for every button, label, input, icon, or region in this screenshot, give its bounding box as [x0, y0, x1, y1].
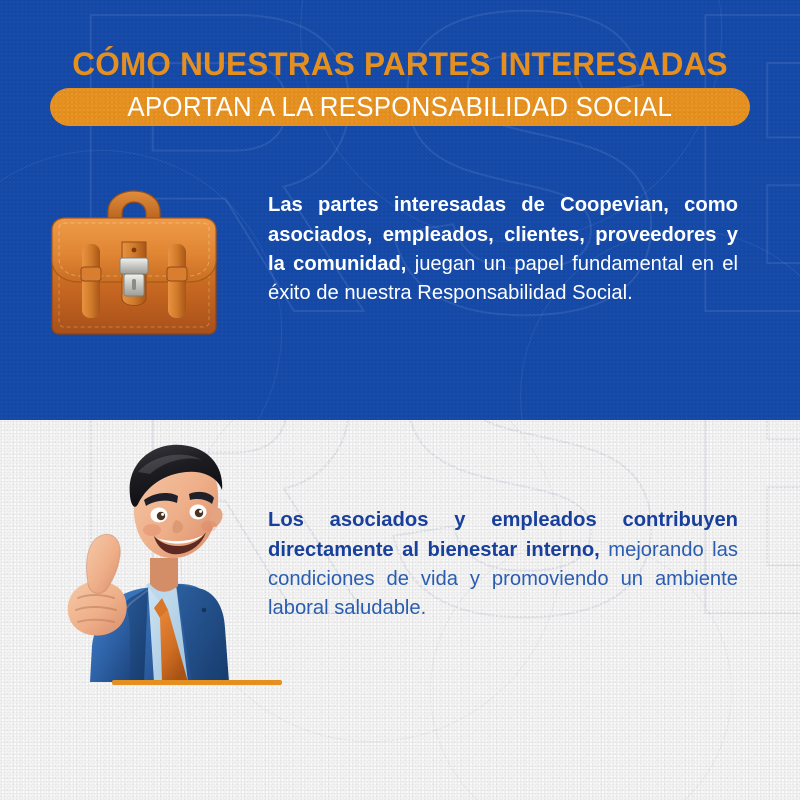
character-ground-bar [112, 680, 282, 685]
page-title-line-1: CÓMO NUESTRAS PARTES INTERESADAS [12, 0, 788, 81]
infographic-poster: RSE RSE CÓMO NUESTRAS PARTES INTERESADAS… [0, 0, 800, 800]
character-neck [150, 558, 178, 592]
briefcase-center-hole [132, 248, 137, 253]
content-row-stakeholders: Las partes interesadas de Coopevian, com… [0, 150, 800, 350]
title-badge: APORTAN A LA RESPONSABILIDAD SOCIAL [50, 88, 750, 126]
businessman-thumbs-up-icon [26, 432, 256, 682]
associates-art-cell [0, 440, 268, 690]
briefcase-strap-left-keeper [81, 267, 101, 281]
character-jacket-button [202, 608, 207, 613]
page-title-line-2: APORTAN A LA RESPONSABILIDAD SOCIAL [128, 93, 673, 121]
briefcase-clasp-top [120, 258, 148, 274]
briefcase-strap-right-keeper [167, 267, 187, 281]
poster-header: CÓMO NUESTRAS PARTES INTERESADAS APORTAN… [0, 0, 800, 81]
stakeholders-text-cell: Las partes interesadas de Coopevian, com… [268, 191, 800, 309]
character-eye-glint-right [199, 510, 202, 513]
stakeholders-paragraph: Las partes interesadas de Coopevian, com… [268, 191, 738, 309]
character-cheek-left [143, 524, 161, 536]
stakeholders-art-cell [0, 150, 268, 350]
character-eye-glint-left [161, 513, 164, 516]
associates-text-cell: Los asociados y empleados contribuyen di… [268, 506, 800, 624]
character-cheek-right [201, 521, 217, 532]
character-pupil-left [157, 512, 165, 520]
content-row-associates: Los asociados y empleados contribuyen di… [0, 440, 800, 690]
associates-paragraph: Los asociados y empleados contribuyen di… [268, 506, 738, 624]
briefcase-clasp-slot [132, 279, 136, 290]
briefcase-icon [36, 168, 232, 344]
character-thumb [87, 534, 121, 593]
character-pupil-right [195, 509, 203, 517]
